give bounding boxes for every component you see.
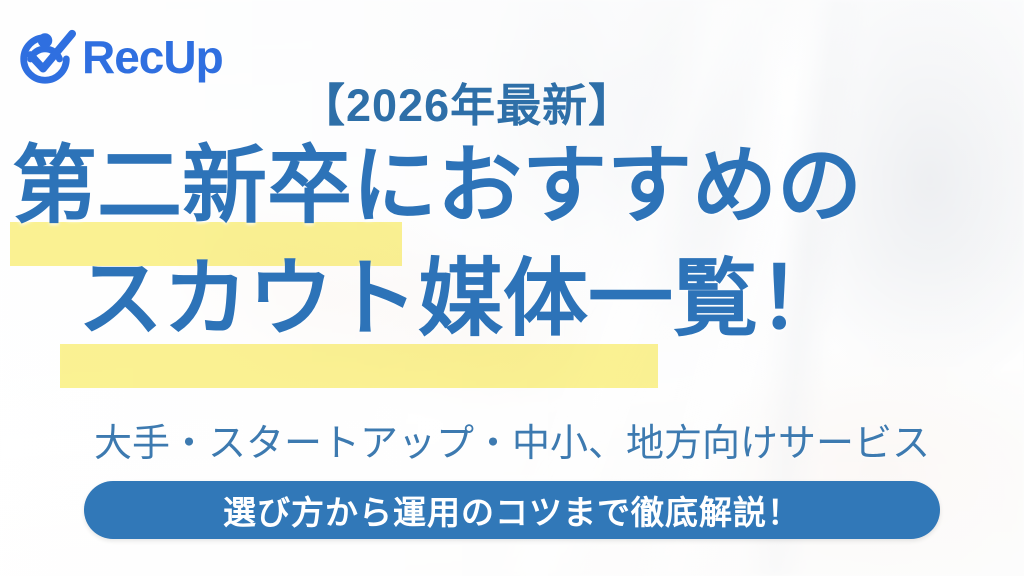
banner-content: RecUp 【2026年最新】 第二新卒におすすめの スカウト媒体一覧！ 大手・… <box>0 0 1024 576</box>
headline-line-1: 第二新卒におすすめの <box>0 144 1024 229</box>
cta-pill[interactable]: 選び方から運用のコツまで徹底解説！ <box>84 481 940 539</box>
headline-line-2: スカウト媒体一覧！ <box>0 257 1024 342</box>
brand-logo[interactable]: RecUp <box>14 26 223 88</box>
person-check-circle-icon <box>14 26 76 88</box>
brand-wordmark: RecUp <box>82 34 223 80</box>
cta-pill-label: 選び方から運用のコツまで徹底解説！ <box>223 486 801 534</box>
eyebrow-label: 【2026年最新】 <box>300 83 634 128</box>
highlight-band-line2 <box>60 344 658 388</box>
headline-block: 第二新卒におすすめの スカウト媒体一覧！ <box>0 144 1024 342</box>
headline-line-1-text: 第二新卒におすすめの <box>12 139 862 234</box>
subtitle-text: 大手・スタートアップ・中小、地方向けサービス <box>0 412 1024 467</box>
promo-banner: RecUp 【2026年最新】 第二新卒におすすめの スカウト媒体一覧！ 大手・… <box>0 0 1024 576</box>
headline-line-2-text: スカウト媒体一覧！ <box>78 252 843 347</box>
